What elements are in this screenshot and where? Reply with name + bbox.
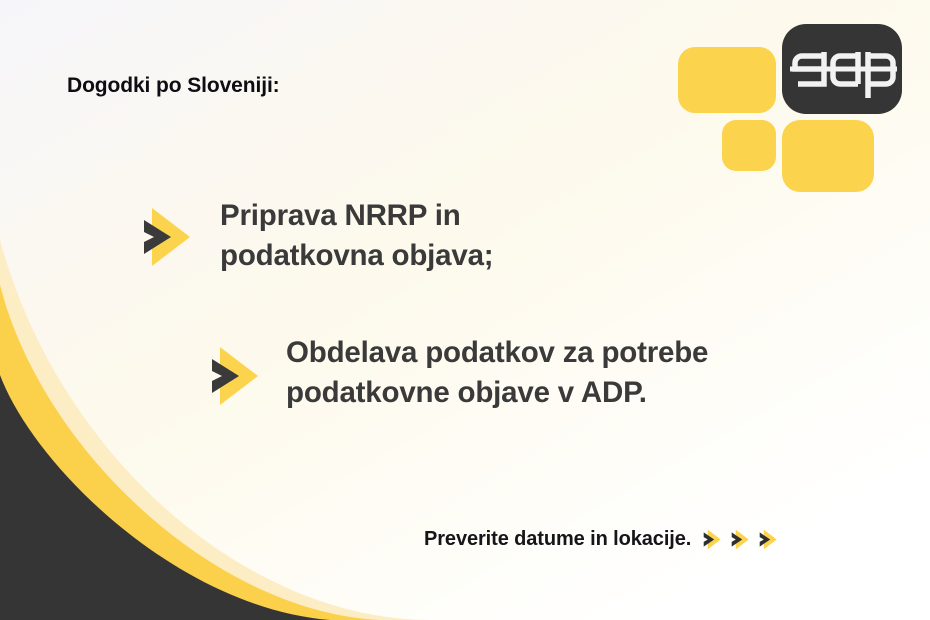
tile-bottom-left-small xyxy=(722,120,776,171)
list-item: Obdelava podatkov za potrebe podatkovne … xyxy=(206,333,708,413)
list-item: Priprava NRRP in podatkovna objava; xyxy=(138,196,493,276)
double-chevron-icon xyxy=(138,206,194,268)
list-item-label: Obdelava podatkov za potrebe podatkovne … xyxy=(286,333,708,413)
double-chevron-icon xyxy=(703,529,722,550)
tile-top-left xyxy=(678,47,776,113)
double-chevron-icon xyxy=(759,529,778,550)
tile-bottom-right xyxy=(782,120,874,192)
double-chevron-icon xyxy=(206,345,262,407)
double-chevron-icon xyxy=(731,529,750,550)
footer-label: Preverite datume in lokacije. xyxy=(424,528,691,551)
list-item-label: Priprava NRRP in podatkovna objava; xyxy=(220,196,493,276)
arc-cream xyxy=(0,240,430,620)
adp-logo[interactable] xyxy=(672,22,904,194)
page-title: Dogodki po Sloveniji: xyxy=(67,74,280,98)
footer: Preverite datume in lokacije. xyxy=(424,528,778,551)
slide-canvas: Dogodki po Sloveniji: Priprava NRRP in p… xyxy=(0,0,930,620)
footer-chevron-group xyxy=(703,529,778,550)
